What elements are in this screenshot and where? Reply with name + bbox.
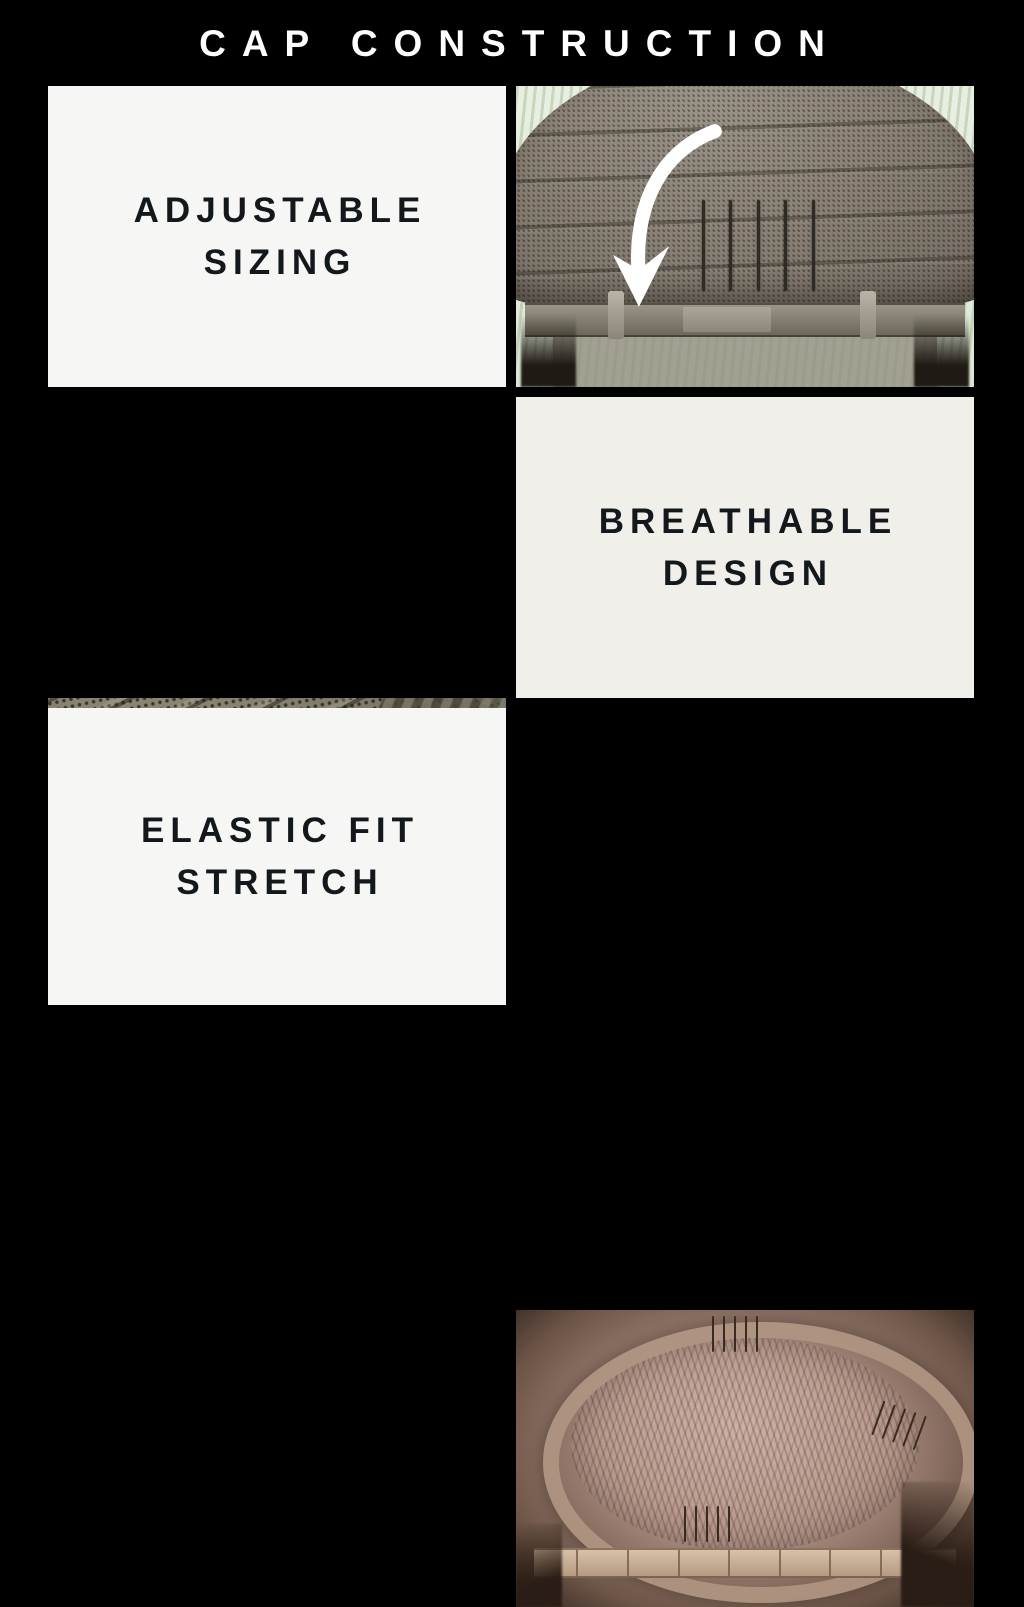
- photo-content: [516, 86, 974, 387]
- adjustable-sizing-line-2: SIZING: [198, 238, 357, 288]
- breathable-design-line-1: BREATHABLE: [593, 497, 898, 547]
- hair-strand-right: [901, 1482, 974, 1607]
- breathable-design-panel: BREATHABLE DESIGN: [516, 397, 974, 698]
- adjustable-sizing-line-1: ADJUSTABLE: [128, 186, 427, 236]
- hair-strand-right: [914, 315, 969, 387]
- page-title: CAP CONSTRUCTION: [183, 25, 841, 62]
- adjustable-band: [534, 1548, 955, 1579]
- elastic-fit-stretch-panel: ELASTIC FIT STRETCH: [48, 708, 506, 1005]
- header: CAP CONSTRUCTION: [0, 0, 1024, 86]
- elastic-fit-stretch-line-2: STRETCH: [170, 858, 383, 908]
- strap-buckle-right-icon: [860, 291, 876, 339]
- infographic-page: CAP CONSTRUCTION ADJUSTABLE SIZING: [0, 0, 1024, 1024]
- comb-clip-top: [708, 1316, 763, 1352]
- elastic-fit-stretch-line-1: ELASTIC FIT: [135, 806, 419, 856]
- breathable-design-line-2: DESIGN: [657, 549, 833, 599]
- comb-clip-bottom: [681, 1506, 736, 1542]
- adjustable-sizing-panel: ADJUSTABLE SIZING: [48, 86, 506, 387]
- net-skirt: [553, 333, 938, 387]
- wig-cap-interior-photo: [516, 1310, 974, 1607]
- hair-strand-left: [516, 1524, 562, 1607]
- photo-content: [516, 1310, 974, 1607]
- feature-grid: ADJUSTABLE SIZING: [48, 86, 974, 1005]
- curved-down-arrow-icon: [589, 116, 754, 333]
- hair-strand-left: [521, 315, 576, 387]
- wig-cap-back-strap-photo: [516, 86, 974, 387]
